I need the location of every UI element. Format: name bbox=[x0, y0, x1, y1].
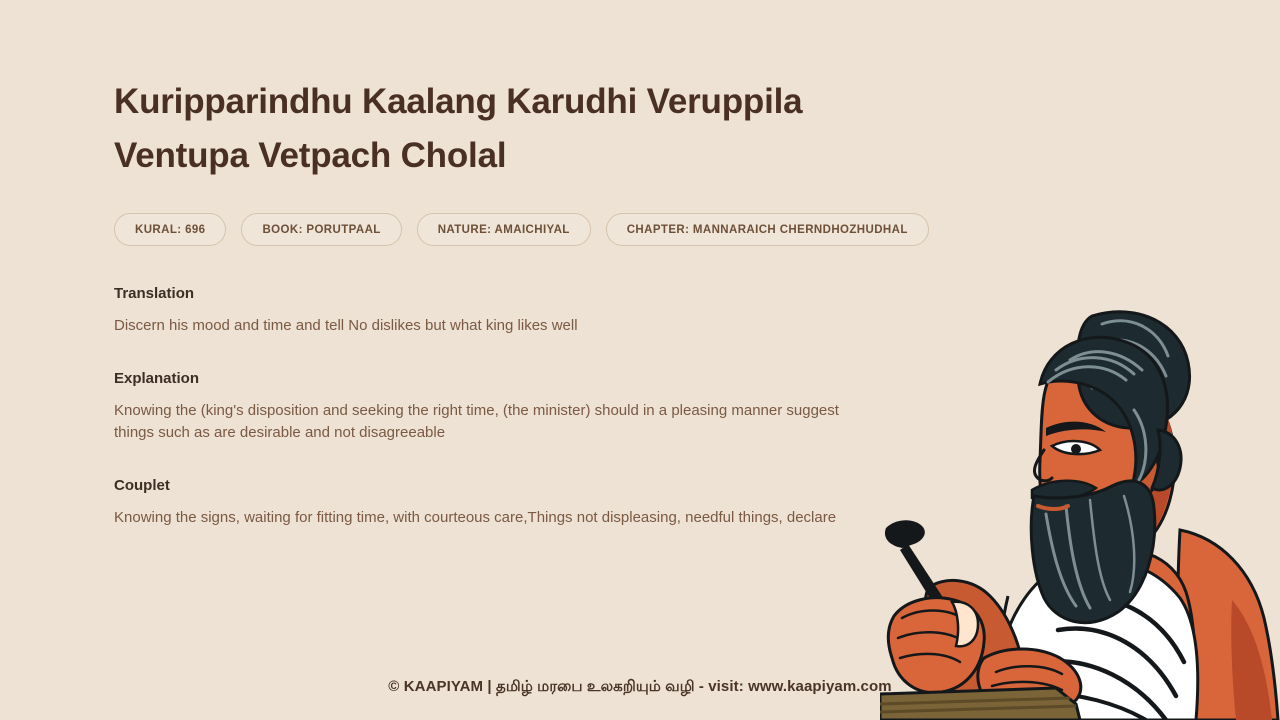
couplet-label: Couplet bbox=[114, 477, 944, 494]
hair-strand-3 bbox=[1070, 352, 1142, 370]
moustache bbox=[1032, 481, 1096, 500]
metadata-chip-row: KURAL: 696 BOOK: PORUTPAAL NATURE: AMAIC… bbox=[114, 213, 944, 246]
section-explanation: Explanation Knowing the (king's disposit… bbox=[114, 370, 944, 444]
eye bbox=[1052, 441, 1100, 454]
eyebrow bbox=[1046, 422, 1106, 436]
hair-strand-2 bbox=[1056, 358, 1134, 374]
left-forearm bbox=[923, 580, 1032, 720]
explanation-text: Knowing the (king's disposition and seek… bbox=[114, 400, 854, 444]
chip-book[interactable]: BOOK: PORUTPAAL bbox=[241, 213, 401, 246]
hair-bun bbox=[1077, 312, 1189, 428]
chip-chapter[interactable]: CHAPTER: MANNARAICH CHERNDHOZHUDHAL bbox=[606, 213, 929, 246]
nose bbox=[1034, 450, 1052, 481]
hair-side bbox=[1152, 430, 1181, 490]
beard-strand-4 bbox=[1124, 496, 1134, 592]
footer-credit: © KAAPIYAM | தமிழ் மரபை உலகறியும் வழி - … bbox=[0, 678, 1280, 697]
hair-strand-4 bbox=[1134, 410, 1146, 482]
bun-strand-3 bbox=[1090, 362, 1162, 396]
section-translation: Translation Discern his mood and time an… bbox=[114, 285, 944, 337]
hair-strand-1 bbox=[1048, 367, 1126, 382]
shawl-fold-1 bbox=[1076, 599, 1184, 662]
couplet-text: Knowing the signs, waiting for fitting t… bbox=[114, 507, 854, 529]
finger-line-3 bbox=[900, 654, 960, 662]
translation-label: Translation bbox=[114, 285, 944, 302]
section-couplet: Couplet Knowing the signs, waiting for f… bbox=[114, 477, 944, 529]
chip-nature[interactable]: NATURE: AMAICHIYAL bbox=[417, 213, 591, 246]
bun-strand-2 bbox=[1094, 340, 1166, 376]
stylus-pen bbox=[885, 520, 977, 658]
beard-strand-2 bbox=[1066, 506, 1090, 608]
lip bbox=[1038, 506, 1068, 509]
thumb bbox=[952, 602, 978, 647]
shawl-fold-4 bbox=[1028, 693, 1146, 720]
face bbox=[1040, 365, 1175, 563]
explanation-label: Explanation bbox=[114, 370, 944, 387]
pupil bbox=[1071, 444, 1081, 454]
bun-strand-4 bbox=[1092, 384, 1156, 412]
kural-card: Kuripparindhu Kaalang Karudhi Veruppila … bbox=[0, 0, 1280, 720]
translation-text: Discern his mood and time and tell No di… bbox=[114, 315, 854, 337]
face-shadow bbox=[1116, 374, 1174, 552]
shawl-left-shade bbox=[978, 600, 1008, 720]
beard-strand-3 bbox=[1090, 500, 1110, 600]
page-title: Kuripparindhu Kaalang Karudhi Veruppila … bbox=[114, 0, 874, 183]
bun-strand-1 bbox=[1102, 321, 1168, 356]
beard-strand-1 bbox=[1046, 514, 1076, 606]
right-arm-shadow bbox=[1231, 600, 1272, 720]
ear bbox=[1136, 449, 1158, 497]
chip-kural-number[interactable]: KURAL: 696 bbox=[114, 213, 226, 246]
hair-top bbox=[1040, 337, 1167, 486]
shawl-edge-left bbox=[999, 596, 1008, 720]
beard bbox=[1031, 481, 1155, 623]
right-finger-line-1 bbox=[996, 666, 1062, 674]
finger-line-2 bbox=[898, 632, 962, 640]
finger-line-1 bbox=[902, 611, 962, 619]
content-column: Kuripparindhu Kaalang Karudhi Veruppila … bbox=[114, 0, 944, 529]
